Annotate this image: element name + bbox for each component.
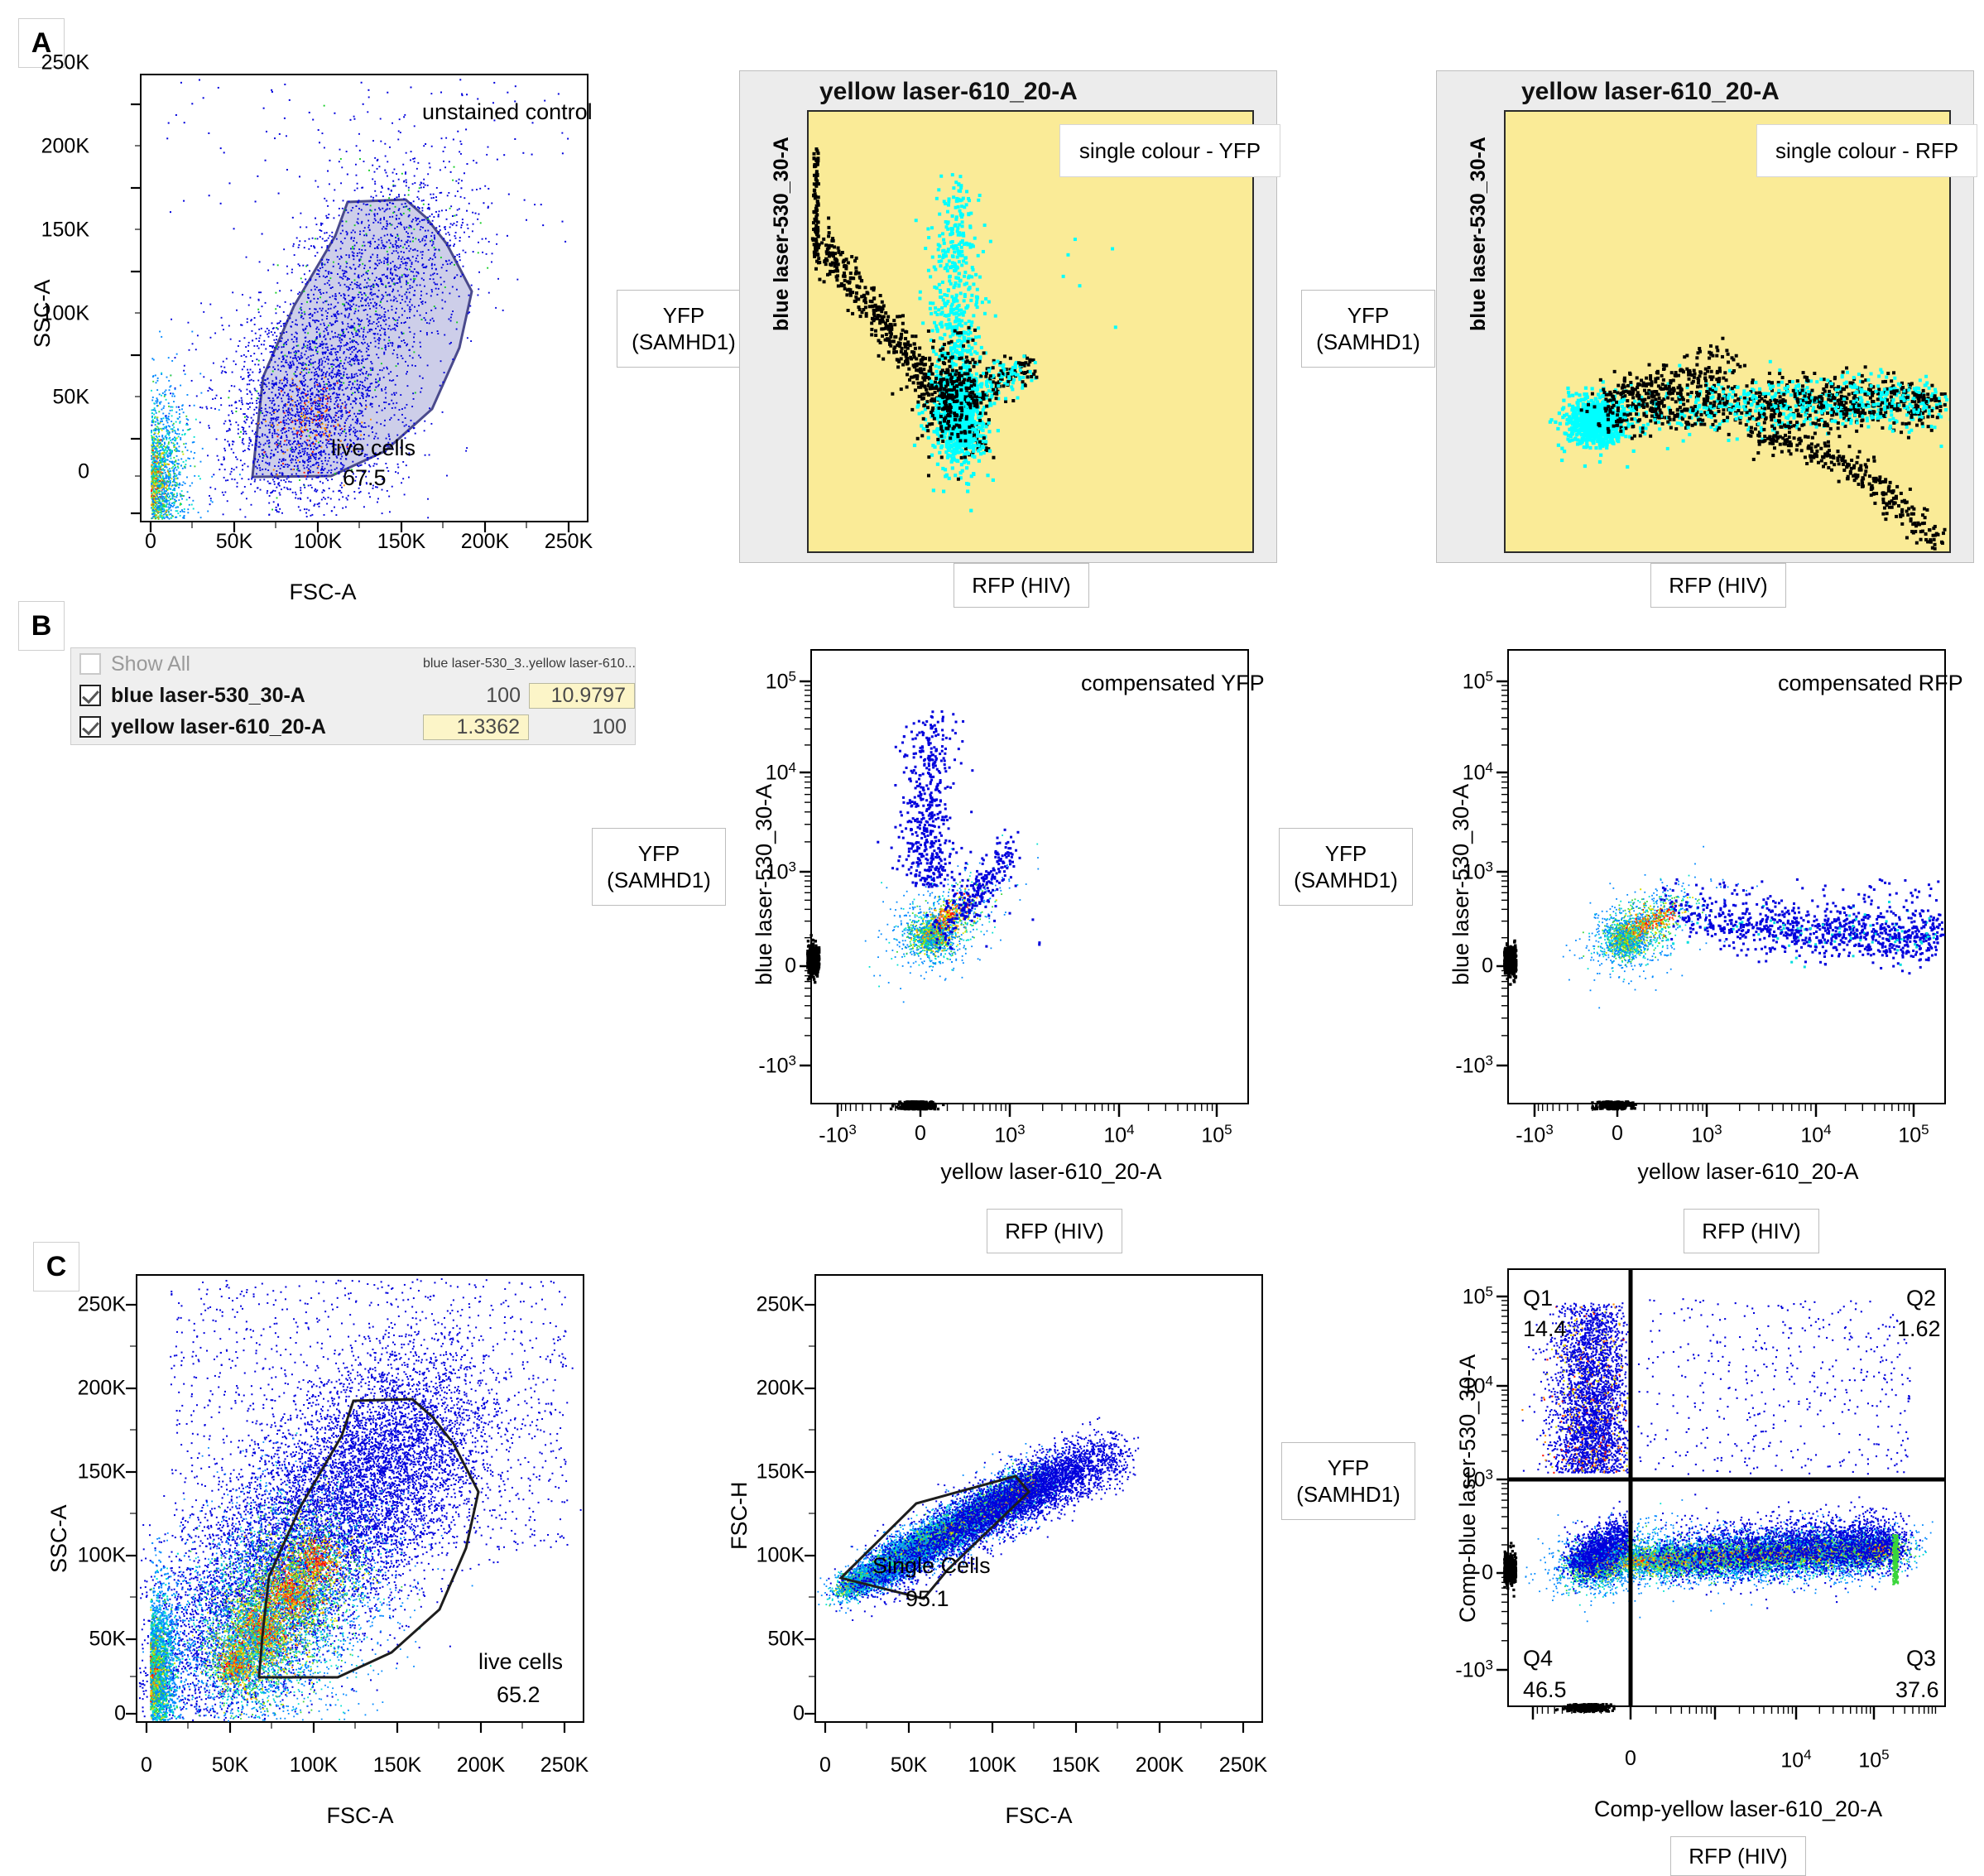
ytick: 100K bbox=[41, 302, 89, 326]
xtick: 250K bbox=[545, 530, 593, 554]
cell-yellow-blue[interactable]: 1.3362 bbox=[423, 714, 529, 740]
ytick: 0 bbox=[78, 460, 89, 484]
cytometer-window-title-rfp: yellow laser-610_20-A bbox=[1521, 78, 1780, 106]
compensation-matrix-table[interactable]: Show All blue laser-530_3... yellow lase… bbox=[70, 647, 636, 745]
xtick: 50K bbox=[891, 1753, 927, 1777]
panel-label-c: C bbox=[33, 1242, 79, 1292]
ytick: 103 bbox=[1463, 859, 1493, 884]
row-checkbox-blue[interactable] bbox=[79, 685, 101, 706]
cell-yellow-yellow[interactable]: 100 bbox=[529, 715, 635, 739]
panel-b-right-xlabel: yellow laser-610_20-A bbox=[1574, 1159, 1922, 1185]
xtick: 200K bbox=[457, 1753, 505, 1777]
panel-c-left-xlabel: FSC-A bbox=[199, 1803, 521, 1829]
ytick: -103 bbox=[1455, 1657, 1493, 1682]
ytick: 103 bbox=[1463, 1466, 1493, 1492]
table-header-row: Show All blue laser-530_3... yellow lase… bbox=[71, 648, 635, 680]
connector-line2: (SAMHD1) bbox=[1294, 867, 1398, 894]
xtick: 250K bbox=[540, 1753, 588, 1777]
panel-c-mid-xlabel: FSC-A bbox=[877, 1803, 1200, 1829]
quadrant-q4-name: Q4 bbox=[1523, 1646, 1553, 1672]
connector-label-yfp-c: YFP (SAMHD1) bbox=[1281, 1442, 1415, 1520]
connector-line1: YFP bbox=[663, 302, 705, 330]
quadrant-q3-value: 37.6 bbox=[1895, 1677, 1939, 1703]
panel-c-right-footer-box: RFP (HIV) bbox=[1670, 1836, 1806, 1876]
panel-b-right-plot bbox=[1508, 650, 1984, 1163]
ytick: 250K bbox=[757, 1293, 805, 1317]
xtick: 50K bbox=[216, 530, 252, 554]
xtick: -103 bbox=[1516, 1122, 1554, 1147]
xtick: 105 bbox=[1858, 1747, 1889, 1773]
ytick: 105 bbox=[1463, 1283, 1493, 1309]
xtick: 150K bbox=[373, 1753, 421, 1777]
xtick: 105 bbox=[1898, 1122, 1929, 1147]
ytick: 150K bbox=[41, 219, 89, 243]
panel-c-right-xlabel: Comp-yellow laser-610_20-A bbox=[1548, 1797, 1929, 1822]
table-row-blue-laser[interactable]: blue laser-530_30-A 100 10.9797 bbox=[71, 680, 635, 711]
cytometer-ylabel-yfp: blue laser-530_30-A bbox=[770, 137, 794, 331]
ytick: 0 bbox=[793, 1702, 805, 1726]
panel-c-left-plot bbox=[137, 1275, 633, 1772]
panel-c-mid-gate-value: 95.1 bbox=[906, 1586, 949, 1612]
ytick: 104 bbox=[1463, 759, 1493, 785]
connector-line1: YFP bbox=[638, 840, 680, 868]
xtick: -103 bbox=[819, 1122, 857, 1147]
legend-single-colour-rfp: single colour - RFP bbox=[1756, 124, 1977, 177]
row-label-yellow: yellow laser-610_20-A bbox=[111, 715, 326, 739]
ytick: 250K bbox=[78, 1293, 126, 1317]
table-row-yellow-laser[interactable]: yellow laser-610_20-A 1.3362 100 bbox=[71, 711, 635, 743]
quadrant-q3-name: Q3 bbox=[1906, 1646, 1936, 1672]
ytick: 50K bbox=[768, 1628, 805, 1652]
panel-b-right-title: compensated RFP bbox=[1778, 671, 1963, 696]
cytometer-ylabel-rfp: blue laser-530_30-A bbox=[1467, 137, 1491, 331]
xtick: 103 bbox=[1691, 1122, 1722, 1147]
xtick: 100K bbox=[294, 530, 342, 554]
ytick: 100K bbox=[757, 1544, 805, 1568]
xtick: 104 bbox=[1800, 1122, 1831, 1147]
xtick: 100K bbox=[968, 1753, 1016, 1777]
ytick: 200K bbox=[757, 1377, 805, 1401]
connector-line2: (SAMHD1) bbox=[632, 329, 736, 356]
connector-line1: YFP bbox=[1347, 302, 1390, 330]
panel-a-left-xlabel: FSC-A bbox=[166, 580, 480, 605]
panel-a-left-gate-value: 67.5 bbox=[343, 465, 387, 491]
xtick: 0 bbox=[1612, 1122, 1623, 1146]
panel-b-mid-plot bbox=[811, 650, 1291, 1163]
xtick: 0 bbox=[915, 1122, 926, 1146]
panel-a-left-annotation: unstained control bbox=[422, 99, 593, 125]
ytick: 200K bbox=[41, 135, 89, 159]
ytick: 103 bbox=[766, 859, 796, 884]
xtick: 200K bbox=[1136, 1753, 1184, 1777]
ytick: 100K bbox=[78, 1544, 126, 1568]
panel-c-mid-gate-name: Single Cells bbox=[872, 1553, 991, 1579]
column-header-blue: blue laser-530_3... bbox=[423, 657, 529, 671]
panel-b-mid-footer-box: RFP (HIV) bbox=[987, 1209, 1122, 1253]
panel-b-mid-footer: RFP (HIV) bbox=[1005, 1218, 1103, 1245]
panel-c-left-ylabel: SSC-A bbox=[46, 1504, 72, 1573]
legend-single-colour-yfp: single colour - YFP bbox=[1059, 124, 1280, 177]
show-all-label: Show All bbox=[111, 652, 190, 676]
panel-c-left-gate-name: live cells bbox=[478, 1649, 563, 1675]
ytick: 104 bbox=[766, 759, 796, 785]
panel-a-mid-xlabel-box: RFP (HIV) bbox=[954, 563, 1089, 608]
panel-a-right-xlabel: RFP (HIV) bbox=[1669, 572, 1767, 599]
panel-b-mid-xlabel: yellow laser-610_20-A bbox=[877, 1159, 1225, 1185]
xtick: 150K bbox=[377, 530, 425, 554]
connector-line1: YFP bbox=[1325, 840, 1367, 868]
ytick: 105 bbox=[1463, 668, 1493, 694]
xtick: 50K bbox=[212, 1753, 248, 1777]
ytick: 200K bbox=[78, 1377, 126, 1401]
ytick: 150K bbox=[757, 1460, 805, 1484]
ytick: 105 bbox=[766, 668, 796, 694]
xtick: 0 bbox=[145, 530, 156, 554]
xtick: 250K bbox=[1219, 1753, 1267, 1777]
xtick: 150K bbox=[1052, 1753, 1100, 1777]
ytick: 0 bbox=[1482, 955, 1493, 979]
xtick: 0 bbox=[141, 1753, 152, 1777]
quadrant-q2-value: 1.62 bbox=[1897, 1316, 1941, 1342]
ytick: 0 bbox=[114, 1702, 126, 1726]
panel-b-right-footer-box: RFP (HIV) bbox=[1684, 1209, 1819, 1253]
connector-label-yfp-a1: YFP (SAMHD1) bbox=[617, 290, 751, 368]
row-checkbox-yellow[interactable] bbox=[79, 716, 101, 738]
connector-label-yfp-a2: YFP (SAMHD1) bbox=[1301, 290, 1435, 368]
panel-c-left-gate-value: 65.2 bbox=[497, 1682, 540, 1708]
xtick: 104 bbox=[1780, 1747, 1811, 1773]
panel-a-right-xlabel-box: RFP (HIV) bbox=[1650, 563, 1786, 608]
panel-label-b: B bbox=[18, 601, 65, 651]
xtick: 104 bbox=[1103, 1122, 1134, 1147]
ytick: -103 bbox=[758, 1052, 796, 1078]
panel-c-mid-plot bbox=[815, 1275, 1312, 1772]
xtick: 100K bbox=[290, 1753, 338, 1777]
connector-label-yfp-b2: YFP (SAMHD1) bbox=[1279, 828, 1413, 906]
panel-a-mid-xlabel: RFP (HIV) bbox=[972, 572, 1070, 599]
ytick: 150K bbox=[78, 1460, 126, 1484]
xtick: 0 bbox=[1625, 1747, 1636, 1771]
xtick: 200K bbox=[461, 530, 509, 554]
quadrant-q1-value: 14.4 bbox=[1523, 1316, 1567, 1342]
panel-a-left-gate-name: live cells bbox=[331, 435, 416, 461]
panel-b-right-footer: RFP (HIV) bbox=[1702, 1218, 1800, 1245]
xtick: 105 bbox=[1201, 1122, 1232, 1147]
panel-c-right-footer: RFP (HIV) bbox=[1689, 1843, 1787, 1870]
cell-blue-yellow[interactable]: 10.9797 bbox=[529, 683, 635, 709]
quadrant-q1-name: Q1 bbox=[1523, 1286, 1553, 1311]
connector-line2: (SAMHD1) bbox=[607, 867, 711, 894]
row-label-blue: blue laser-530_30-A bbox=[111, 684, 305, 708]
connector-line2: (SAMHD1) bbox=[1316, 329, 1420, 356]
panel-c-mid-ylabel: FSC-H bbox=[727, 1482, 752, 1551]
xtick: 103 bbox=[994, 1122, 1025, 1147]
ytick: 0 bbox=[1482, 1561, 1493, 1585]
ytick: 0 bbox=[785, 955, 796, 979]
ytick: -103 bbox=[1455, 1052, 1493, 1078]
panel-b-mid-title: compensated YFP bbox=[1081, 671, 1265, 696]
column-header-yellow: yellow laser-610... bbox=[529, 657, 635, 671]
cell-blue-blue[interactable]: 100 bbox=[423, 684, 529, 708]
show-all-checkbox[interactable] bbox=[79, 653, 101, 675]
connector-line2: (SAMHD1) bbox=[1296, 1481, 1400, 1508]
connector-line1: YFP bbox=[1328, 1455, 1370, 1482]
quadrant-q4-value: 46.5 bbox=[1523, 1677, 1567, 1703]
ytick: 250K bbox=[41, 51, 89, 75]
ytick: 104 bbox=[1463, 1373, 1493, 1398]
quadrant-q2-name: Q2 bbox=[1906, 1286, 1936, 1311]
ytick: 50K bbox=[89, 1628, 126, 1652]
cytometer-window-title-yfp: yellow laser-610_20-A bbox=[819, 78, 1078, 106]
xtick: 0 bbox=[819, 1753, 831, 1777]
ytick: 50K bbox=[53, 386, 89, 410]
connector-label-yfp-b1: YFP (SAMHD1) bbox=[592, 828, 726, 906]
